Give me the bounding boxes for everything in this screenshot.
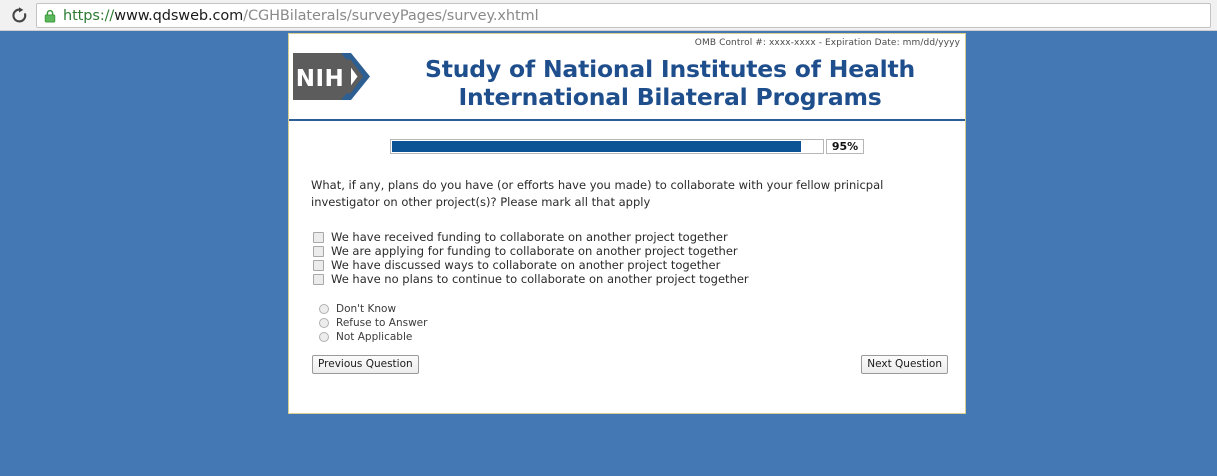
radio-option-1[interactable]: Refuse to Answer bbox=[319, 316, 427, 330]
previous-question-button[interactable]: Previous Question bbox=[312, 355, 419, 374]
checkbox-option-2[interactable]: We have discussed ways to collaborate on… bbox=[313, 258, 749, 272]
checkbox-icon[interactable] bbox=[313, 260, 324, 271]
radio-option-label: Refuse to Answer bbox=[336, 316, 427, 330]
header-divider bbox=[289, 119, 965, 121]
checkbox-option-label: We have no plans to continue to collabor… bbox=[331, 272, 749, 286]
url-host: www.qdsweb.com bbox=[114, 8, 243, 24]
question-text: What, if any, plans do you have (or effo… bbox=[311, 177, 947, 211]
radio-icon[interactable] bbox=[319, 318, 329, 328]
progress-percent-label: 95% bbox=[826, 139, 864, 154]
omb-notice: OMB Control #: xxxx-xxxx - Expiration Da… bbox=[695, 38, 960, 48]
radio-icon[interactable] bbox=[319, 332, 329, 342]
checkbox-icon[interactable] bbox=[313, 274, 324, 285]
progress-track bbox=[390, 139, 824, 154]
progress-fill bbox=[392, 141, 801, 152]
page-title: Study of National Institutes of Health I… bbox=[381, 55, 959, 111]
checkbox-option-label: We have discussed ways to collaborate on… bbox=[331, 258, 720, 272]
checkbox-icon[interactable] bbox=[313, 246, 324, 257]
nih-logo-icon: NIH bbox=[293, 53, 371, 100]
radio-icon[interactable] bbox=[319, 304, 329, 314]
url-text: https://www.qdsweb.com/CGHBilaterals/sur… bbox=[63, 8, 539, 24]
progress-bar: 95% bbox=[390, 139, 864, 154]
checkbox-option-0[interactable]: We have received funding to collaborate … bbox=[313, 230, 749, 244]
checkbox-option-label: We are applying for funding to collabora… bbox=[331, 244, 738, 258]
checkbox-option-3[interactable]: We have no plans to continue to collabor… bbox=[313, 272, 749, 286]
lock-icon bbox=[43, 9, 57, 23]
address-bar[interactable]: https://www.qdsweb.com/CGHBilaterals/sur… bbox=[36, 3, 1211, 28]
radio-option-label: Don't Know bbox=[336, 302, 396, 316]
survey-panel: OMB Control #: xxxx-xxxx - Expiration Da… bbox=[288, 33, 966, 414]
survey-header: NIH Study of National Institutes of Heal… bbox=[289, 53, 965, 119]
checkbox-option-label: We have received funding to collaborate … bbox=[331, 230, 728, 244]
checkbox-icon[interactable] bbox=[313, 232, 324, 243]
radio-option-label: Not Applicable bbox=[336, 330, 412, 344]
radio-option-list: Don't KnowRefuse to AnswerNot Applicable bbox=[319, 302, 427, 344]
url-path: /CGHBilaterals/surveyPages/survey.xhtml bbox=[243, 8, 538, 24]
page-title-line1: Study of National Institutes of Health bbox=[425, 55, 915, 83]
page-backdrop: OMB Control #: xxxx-xxxx - Expiration Da… bbox=[0, 31, 1217, 476]
reload-button[interactable] bbox=[6, 3, 32, 28]
page-title-line2: International Bilateral Programs bbox=[381, 83, 959, 111]
radio-option-0[interactable]: Don't Know bbox=[319, 302, 427, 316]
checkbox-option-list: We have received funding to collaborate … bbox=[313, 230, 749, 286]
url-scheme: https:// bbox=[63, 8, 114, 24]
svg-text:NIH: NIH bbox=[296, 66, 345, 92]
reload-icon bbox=[11, 7, 28, 24]
checkbox-option-1[interactable]: We are applying for funding to collabora… bbox=[313, 244, 749, 258]
radio-option-2[interactable]: Not Applicable bbox=[319, 330, 427, 344]
next-question-button[interactable]: Next Question bbox=[861, 355, 948, 374]
browser-chrome: https://www.qdsweb.com/CGHBilaterals/sur… bbox=[0, 0, 1217, 31]
